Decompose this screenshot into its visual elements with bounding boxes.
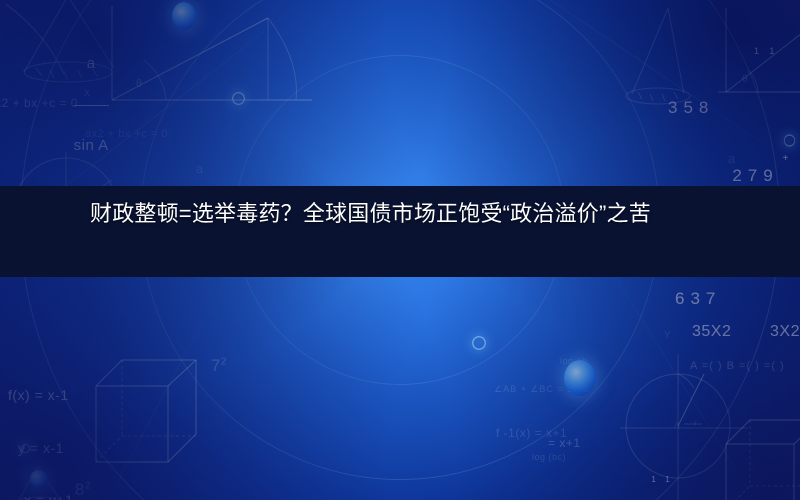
- law-of-sines-bottom-center: a sin A: [126, 452, 176, 500]
- column-addition-top-right: 11 358 279 + 637: [668, 4, 785, 341]
- cone-diagram-top-right: [610, 6, 750, 116]
- carry-digit: 1: [665, 475, 679, 484]
- function-line-2: y = x-1: [8, 440, 73, 458]
- sum: 637: [668, 290, 785, 307]
- page-title: 财政整顿=选举毒药？全球国债市场正饱受“政治溢价”之苦: [0, 186, 679, 229]
- angle-sum-expression: ∠AB + ∠BC = ∠AB: [494, 384, 590, 395]
- exponent-power: 2: [221, 357, 227, 368]
- glow-orb-6: [30, 470, 47, 487]
- angle-label-theta-2: θ: [742, 74, 748, 87]
- glow-orb-2: [232, 92, 245, 105]
- carry-digit: 1: [754, 46, 769, 56]
- addend-2: 279: [732, 166, 778, 185]
- cone-diagram-top-left: [6, 0, 156, 114]
- multiply-expression-2: 3X2: [770, 322, 800, 342]
- column-addition-bottom-right: 11 358 279 + 637: [574, 438, 680, 500]
- quadratic-formula-1: ax2 + bx +c = 0: [0, 96, 78, 111]
- fraction-bar: [74, 105, 109, 106]
- carry-digit: 1: [651, 475, 665, 484]
- glow-orb-4: [564, 360, 596, 396]
- function-line-3: x = y+1: [8, 492, 73, 500]
- plus-operator: +: [783, 154, 795, 164]
- cone-diagram-bottom-left: [4, 466, 94, 500]
- exponent-base: 8: [75, 480, 85, 499]
- glow-orb-7: [784, 134, 795, 147]
- matrix-expression: A =( ) B =( ) =( ): [690, 360, 785, 374]
- exponent-seven: 72: [190, 334, 227, 398]
- inverse-function-expression: f -1(x) = x+1: [496, 426, 567, 441]
- angle-axis-top-left: [100, 4, 320, 114]
- law-of-sines-top-left: a sin A: [55, 6, 109, 206]
- circle-radius-diagram: [620, 354, 750, 500]
- angle-label-theta-1: θ: [136, 78, 143, 92]
- cube-diagram-bottom-left: [92, 352, 202, 472]
- fraction-numerator: a: [74, 56, 109, 72]
- point-label-a: A: [674, 420, 681, 431]
- log-label-ab: log ab: [560, 356, 588, 367]
- fraction-numerator: a: [716, 152, 747, 166]
- glow-orb-5: [21, 444, 30, 453]
- light-streak-3: [60, 253, 239, 500]
- fraction-denominator: sin A: [74, 138, 109, 154]
- cube-diagram-bottom-right: [722, 408, 800, 500]
- angle-axis-top-right: [718, 6, 800, 106]
- function-block: f(x) = x-1 y = x-1 x = y+1: [8, 352, 73, 500]
- light-streak-2: [466, 0, 800, 178]
- exponent-eight: 82: [54, 458, 91, 500]
- exponent-power: 2: [85, 481, 91, 492]
- law-of-sines-bottom-left: a sin A: [0, 448, 44, 500]
- multiply-expression-1: 35X2: [692, 322, 731, 342]
- equals-x-plus-one: = x+1: [548, 436, 581, 451]
- axis-label-y-bottom: Y: [664, 330, 671, 343]
- radius-label-r: r: [694, 418, 698, 429]
- axis-label-x-top-left: X: [84, 88, 91, 99]
- function-line-1: f(x) = x-1: [8, 387, 73, 405]
- carry-digit: 1: [769, 46, 785, 56]
- fraction-numerator: a: [184, 162, 215, 176]
- addend-1: 358: [668, 99, 785, 116]
- fraction-numerator: a: [12, 495, 45, 500]
- title-band: 财政整顿=选举毒药？全球国债市场正饱受“政治溢价”之苦: [0, 186, 800, 277]
- glow-orb-3: [472, 336, 486, 350]
- log-label-bc: log (bc): [532, 452, 566, 463]
- poster-canvas: X θ a sin A ax2 + bx +c = 0 ax2 + bx +c …: [0, 0, 800, 500]
- quadratic-formula-2: ax2 + bx +c = 0: [85, 128, 168, 142]
- exponent-base: 7: [211, 356, 221, 375]
- glow-orb-1: [172, 2, 196, 30]
